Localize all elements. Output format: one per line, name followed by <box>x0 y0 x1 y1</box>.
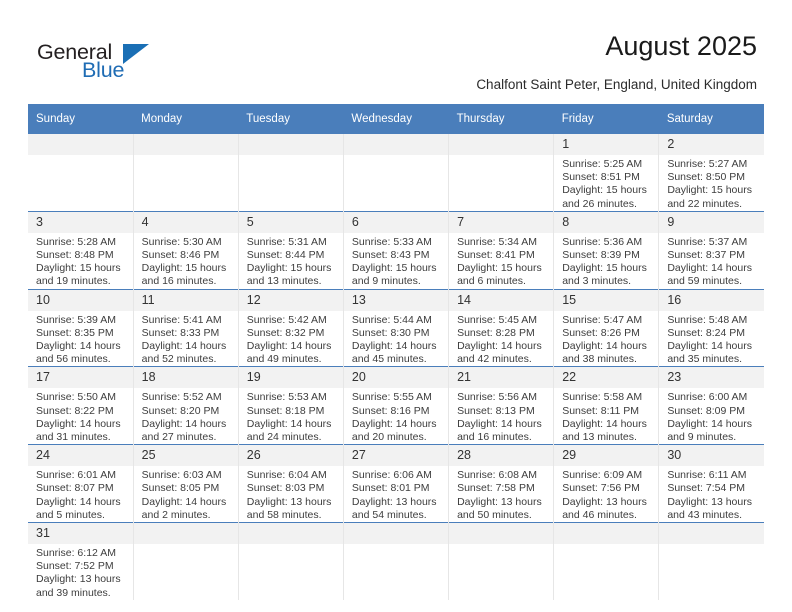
day-number <box>659 523 764 544</box>
calendar-day-cell[interactable]: 10Sunrise: 5:39 AM Sunset: 8:35 PM Dayli… <box>28 289 133 367</box>
day-number: 10 <box>28 290 133 311</box>
day-sun-info: Sunrise: 5:44 AM Sunset: 8:30 PM Dayligh… <box>344 311 448 367</box>
calendar-day-cell-empty <box>554 523 659 600</box>
day-sun-info: Sunrise: 5:45 AM Sunset: 8:28 PM Dayligh… <box>449 311 553 367</box>
day-number: 12 <box>239 290 343 311</box>
day-sun-info: Sunrise: 5:55 AM Sunset: 8:16 PM Dayligh… <box>344 388 448 444</box>
sunrise-sunset-calendar: Sunday Monday Tuesday Wednesday Thursday… <box>28 104 764 600</box>
day-sun-info: Sunrise: 5:28 AM Sunset: 8:48 PM Dayligh… <box>28 233 133 289</box>
calendar-day-cell[interactable]: 11Sunrise: 5:41 AM Sunset: 8:33 PM Dayli… <box>133 289 238 367</box>
calendar-page: General Blue August 2025 Chalfont Saint … <box>0 0 792 612</box>
calendar-day-cell-empty <box>133 523 238 600</box>
day-number <box>134 134 238 155</box>
day-number: 7 <box>449 212 553 233</box>
day-number <box>134 523 238 544</box>
weekday-header-thursday: Thursday <box>449 104 554 134</box>
day-number: 24 <box>28 445 133 466</box>
calendar-day-cell[interactable]: 5Sunrise: 5:31 AM Sunset: 8:44 PM Daylig… <box>238 211 343 289</box>
day-number: 31 <box>28 523 133 544</box>
day-sun-info: Sunrise: 5:30 AM Sunset: 8:46 PM Dayligh… <box>134 233 238 289</box>
calendar-day-cell[interactable]: 7Sunrise: 5:34 AM Sunset: 8:41 PM Daylig… <box>449 211 554 289</box>
day-sun-info: Sunrise: 6:12 AM Sunset: 7:52 PM Dayligh… <box>28 544 133 600</box>
calendar-day-cell[interactable]: 17Sunrise: 5:50 AM Sunset: 8:22 PM Dayli… <box>28 367 133 445</box>
page-subtitle-location: Chalfont Saint Peter, England, United Ki… <box>476 78 757 93</box>
calendar-day-cell-empty <box>659 523 764 600</box>
weekday-header-saturday: Saturday <box>659 104 764 134</box>
day-number: 27 <box>344 445 448 466</box>
weekday-header-friday: Friday <box>554 104 659 134</box>
calendar-day-cell[interactable]: 22Sunrise: 5:58 AM Sunset: 8:11 PM Dayli… <box>554 367 659 445</box>
calendar-day-cell[interactable]: 27Sunrise: 6:06 AM Sunset: 8:01 PM Dayli… <box>343 445 448 523</box>
day-sun-info: Sunrise: 5:58 AM Sunset: 8:11 PM Dayligh… <box>554 388 658 444</box>
day-number: 1 <box>554 134 658 155</box>
day-sun-info: Sunrise: 5:41 AM Sunset: 8:33 PM Dayligh… <box>134 311 238 367</box>
day-number <box>239 134 343 155</box>
calendar-week-row: 1Sunrise: 5:25 AM Sunset: 8:51 PM Daylig… <box>28 134 764 212</box>
day-sun-info: Sunrise: 5:52 AM Sunset: 8:20 PM Dayligh… <box>134 388 238 444</box>
calendar-day-cell[interactable]: 15Sunrise: 5:47 AM Sunset: 8:26 PM Dayli… <box>554 289 659 367</box>
day-number <box>449 523 553 544</box>
day-sun-info: Sunrise: 6:00 AM Sunset: 8:09 PM Dayligh… <box>659 388 764 444</box>
day-number: 25 <box>134 445 238 466</box>
day-number: 8 <box>554 212 658 233</box>
day-sun-info: Sunrise: 5:33 AM Sunset: 8:43 PM Dayligh… <box>344 233 448 289</box>
day-sun-info: Sunrise: 6:11 AM Sunset: 7:54 PM Dayligh… <box>659 466 764 522</box>
day-number: 22 <box>554 367 658 388</box>
calendar-day-cell[interactable]: 9Sunrise: 5:37 AM Sunset: 8:37 PM Daylig… <box>659 211 764 289</box>
calendar-day-cell-empty <box>238 523 343 600</box>
weekday-header-wednesday: Wednesday <box>343 104 448 134</box>
calendar-day-cell[interactable]: 16Sunrise: 5:48 AM Sunset: 8:24 PM Dayli… <box>659 289 764 367</box>
day-sun-info: Sunrise: 5:39 AM Sunset: 8:35 PM Dayligh… <box>28 311 133 367</box>
day-sun-info: Sunrise: 5:48 AM Sunset: 8:24 PM Dayligh… <box>659 311 764 367</box>
calendar-header-row: Sunday Monday Tuesday Wednesday Thursday… <box>28 104 764 134</box>
calendar-day-cell[interactable]: 1Sunrise: 5:25 AM Sunset: 8:51 PM Daylig… <box>554 134 659 212</box>
calendar-week-row: 3Sunrise: 5:28 AM Sunset: 8:48 PM Daylig… <box>28 211 764 289</box>
page-header: General Blue August 2025 Chalfont Saint … <box>0 0 792 104</box>
calendar-day-cell[interactable]: 26Sunrise: 6:04 AM Sunset: 8:03 PM Dayli… <box>238 445 343 523</box>
calendar-day-cell[interactable]: 6Sunrise: 5:33 AM Sunset: 8:43 PM Daylig… <box>343 211 448 289</box>
calendar-day-cell-empty <box>28 134 133 212</box>
day-number: 17 <box>28 367 133 388</box>
day-number: 30 <box>659 445 764 466</box>
day-number <box>449 134 553 155</box>
day-sun-info: Sunrise: 6:01 AM Sunset: 8:07 PM Dayligh… <box>28 466 133 522</box>
weekday-header-sunday: Sunday <box>28 104 133 134</box>
day-sun-info: Sunrise: 5:25 AM Sunset: 8:51 PM Dayligh… <box>554 155 658 211</box>
day-number <box>28 134 133 155</box>
calendar-week-row: 24Sunrise: 6:01 AM Sunset: 8:07 PM Dayli… <box>28 445 764 523</box>
day-number: 16 <box>659 290 764 311</box>
calendar-week-row: 10Sunrise: 5:39 AM Sunset: 8:35 PM Dayli… <box>28 289 764 367</box>
day-sun-info: Sunrise: 6:08 AM Sunset: 7:58 PM Dayligh… <box>449 466 553 522</box>
day-sun-info: Sunrise: 5:53 AM Sunset: 8:18 PM Dayligh… <box>239 388 343 444</box>
calendar-day-cell[interactable]: 8Sunrise: 5:36 AM Sunset: 8:39 PM Daylig… <box>554 211 659 289</box>
calendar-day-cell-empty <box>238 134 343 212</box>
calendar-day-cell[interactable]: 28Sunrise: 6:08 AM Sunset: 7:58 PM Dayli… <box>449 445 554 523</box>
calendar-day-cell[interactable]: 14Sunrise: 5:45 AM Sunset: 8:28 PM Dayli… <box>449 289 554 367</box>
blue-triangle-icon <box>123 44 149 64</box>
day-number <box>239 523 343 544</box>
calendar-day-cell[interactable]: 21Sunrise: 5:56 AM Sunset: 8:13 PM Dayli… <box>449 367 554 445</box>
day-number: 15 <box>554 290 658 311</box>
day-sun-info: Sunrise: 5:42 AM Sunset: 8:32 PM Dayligh… <box>239 311 343 367</box>
day-sun-info: Sunrise: 6:03 AM Sunset: 8:05 PM Dayligh… <box>134 466 238 522</box>
day-number <box>344 523 448 544</box>
calendar-day-cell-empty <box>133 134 238 212</box>
day-number: 20 <box>344 367 448 388</box>
calendar-day-cell[interactable]: 23Sunrise: 6:00 AM Sunset: 8:09 PM Dayli… <box>659 367 764 445</box>
calendar-day-cell[interactable]: 19Sunrise: 5:53 AM Sunset: 8:18 PM Dayli… <box>238 367 343 445</box>
day-sun-info: Sunrise: 5:31 AM Sunset: 8:44 PM Dayligh… <box>239 233 343 289</box>
day-number <box>344 134 448 155</box>
day-number: 29 <box>554 445 658 466</box>
calendar-day-cell-empty <box>343 134 448 212</box>
calendar-day-cell[interactable]: 30Sunrise: 6:11 AM Sunset: 7:54 PM Dayli… <box>659 445 764 523</box>
day-number: 26 <box>239 445 343 466</box>
day-number: 19 <box>239 367 343 388</box>
day-sun-info: Sunrise: 5:50 AM Sunset: 8:22 PM Dayligh… <box>28 388 133 444</box>
day-sun-info: Sunrise: 6:04 AM Sunset: 8:03 PM Dayligh… <box>239 466 343 522</box>
day-number <box>554 523 658 544</box>
page-title: August 2025 <box>605 32 757 62</box>
day-sun-info: Sunrise: 5:34 AM Sunset: 8:41 PM Dayligh… <box>449 233 553 289</box>
calendar-day-cell[interactable]: 18Sunrise: 5:52 AM Sunset: 8:20 PM Dayli… <box>133 367 238 445</box>
calendar-day-cell-empty <box>449 134 554 212</box>
calendar-day-cell[interactable]: 4Sunrise: 5:30 AM Sunset: 8:46 PM Daylig… <box>133 211 238 289</box>
day-number: 11 <box>134 290 238 311</box>
day-sun-info: Sunrise: 5:36 AM Sunset: 8:39 PM Dayligh… <box>554 233 658 289</box>
day-sun-info: Sunrise: 5:37 AM Sunset: 8:37 PM Dayligh… <box>659 233 764 289</box>
day-number: 14 <box>449 290 553 311</box>
day-number: 18 <box>134 367 238 388</box>
calendar-day-cell[interactable]: 25Sunrise: 6:03 AM Sunset: 8:05 PM Dayli… <box>133 445 238 523</box>
day-number: 28 <box>449 445 553 466</box>
calendar-day-cell[interactable]: 29Sunrise: 6:09 AM Sunset: 7:56 PM Dayli… <box>554 445 659 523</box>
day-sun-info: Sunrise: 6:09 AM Sunset: 7:56 PM Dayligh… <box>554 466 658 522</box>
day-number: 13 <box>344 290 448 311</box>
day-sun-info: Sunrise: 5:47 AM Sunset: 8:26 PM Dayligh… <box>554 311 658 367</box>
calendar-day-cell[interactable]: 24Sunrise: 6:01 AM Sunset: 8:07 PM Dayli… <box>28 445 133 523</box>
calendar-week-row: 31Sunrise: 6:12 AM Sunset: 7:52 PM Dayli… <box>28 523 764 600</box>
day-number: 21 <box>449 367 553 388</box>
day-sun-info: Sunrise: 6:06 AM Sunset: 8:01 PM Dayligh… <box>344 466 448 522</box>
calendar-day-cell[interactable]: 12Sunrise: 5:42 AM Sunset: 8:32 PM Dayli… <box>238 289 343 367</box>
day-number: 23 <box>659 367 764 388</box>
weekday-header-tuesday: Tuesday <box>238 104 343 134</box>
day-sun-info: Sunrise: 5:27 AM Sunset: 8:50 PM Dayligh… <box>659 155 764 211</box>
day-number: 5 <box>239 212 343 233</box>
calendar-week-row: 17Sunrise: 5:50 AM Sunset: 8:22 PM Dayli… <box>28 367 764 445</box>
calendar-day-cell[interactable]: 2Sunrise: 5:27 AM Sunset: 8:50 PM Daylig… <box>659 134 764 212</box>
day-number: 9 <box>659 212 764 233</box>
calendar-day-cell[interactable]: 20Sunrise: 5:55 AM Sunset: 8:16 PM Dayli… <box>343 367 448 445</box>
calendar-body: 1Sunrise: 5:25 AM Sunset: 8:51 PM Daylig… <box>28 134 764 600</box>
day-sun-info: Sunrise: 5:56 AM Sunset: 8:13 PM Dayligh… <box>449 388 553 444</box>
day-number: 6 <box>344 212 448 233</box>
calendar-day-cell-empty <box>449 523 554 600</box>
calendar-day-cell[interactable]: 31Sunrise: 6:12 AM Sunset: 7:52 PM Dayli… <box>28 523 133 600</box>
calendar-day-cell[interactable]: 3Sunrise: 5:28 AM Sunset: 8:48 PM Daylig… <box>28 211 133 289</box>
day-number: 3 <box>28 212 133 233</box>
day-number: 2 <box>659 134 764 155</box>
day-number: 4 <box>134 212 238 233</box>
calendar-day-cell[interactable]: 13Sunrise: 5:44 AM Sunset: 8:30 PM Dayli… <box>343 289 448 367</box>
weekday-header-monday: Monday <box>133 104 238 134</box>
calendar-day-cell-empty <box>343 523 448 600</box>
general-blue-logo[interactable]: General Blue <box>37 40 217 90</box>
logo-text-blue: Blue <box>82 58 124 83</box>
